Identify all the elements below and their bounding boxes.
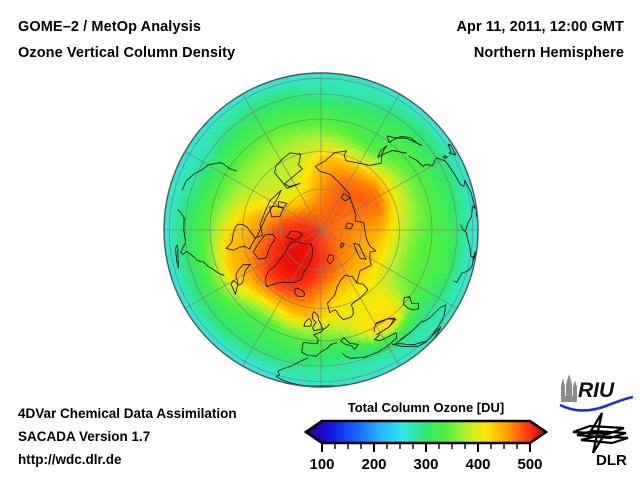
credit-method: 4DVar Chemical Data Assimilation xyxy=(18,402,318,425)
ozone-globe-map xyxy=(160,69,482,391)
analysis-timestamp: Apr 11, 2011, 12:00 GMT xyxy=(294,14,624,40)
colorbar-gradient xyxy=(300,419,552,445)
colorbar-tick-label: 100 xyxy=(309,456,334,473)
colorbar-tick-label: 400 xyxy=(465,456,490,473)
credits-block: 4DVar Chemical Data Assimilation SACADA … xyxy=(18,402,318,471)
riu-logo: RIU xyxy=(556,372,636,412)
colorbar-tick-label: 300 xyxy=(413,456,438,473)
colorbar-tick-labels: 100200300400500 xyxy=(309,456,542,473)
colorbar-tick-label: 200 xyxy=(361,456,386,473)
header-right: Apr 11, 2011, 12:00 GMT Northern Hemisph… xyxy=(294,14,624,66)
colorbar-block: Total Column Ozone [DU] 100200300400500 xyxy=(300,400,552,475)
colorbar-tick-label: 500 xyxy=(517,456,542,473)
analysis-region: Northern Hemisphere xyxy=(294,40,624,66)
riu-logo-svg: RIU xyxy=(556,372,636,412)
cathedral-tower-icon xyxy=(561,374,577,402)
dlr-mark-icon xyxy=(573,413,628,453)
riu-logo-text: RIU xyxy=(578,379,615,402)
dlr-logo: DLR xyxy=(568,412,634,468)
credit-url[interactable]: http://wdc.dlr.de xyxy=(18,448,318,471)
colorbar-title: Total Column Ozone [DU] xyxy=(300,400,552,415)
dlr-logo-svg: DLR xyxy=(568,412,634,468)
dlr-logo-text: DLR xyxy=(596,452,627,468)
credit-version: SACADA Version 1.7 xyxy=(18,425,318,448)
colorbar-ticks xyxy=(322,444,530,452)
colorbar-svg: 100200300400500 xyxy=(300,419,552,475)
globe-svg xyxy=(160,69,482,391)
